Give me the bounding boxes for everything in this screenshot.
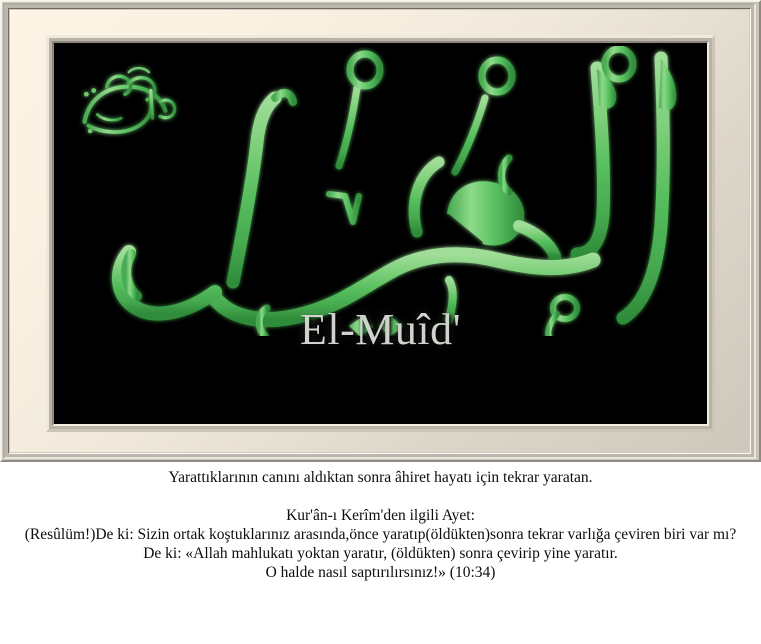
verse-line-2: De ki: «Allah mahlukatı yoktan yaratır, … <box>0 544 761 563</box>
caption-block: Yarattıklarının canını aldıktan sonra âh… <box>0 468 761 582</box>
jalla-jalaluhu-ornament <box>84 68 175 133</box>
verse-line-3: O halde nasıl saptırılırsınız!» (10:34) <box>0 563 761 582</box>
arabic-calligraphy <box>57 46 704 336</box>
caption-spacer <box>0 487 761 506</box>
artwork-canvas: El-Muîd' <box>57 46 704 421</box>
verse-line-1: (Resûlüm!)De ki: Sizin ortak koştukların… <box>0 525 761 544</box>
name-meaning-text: Yarattıklarının canını aldıktan sonra âh… <box>0 468 761 487</box>
verse-heading: Kur'ân-ı Kerîm'den ilgili Ayet: <box>0 506 761 525</box>
picture-frame: El-Muîd' <box>0 0 761 464</box>
artwork-title: El-Muîd' <box>57 304 704 355</box>
